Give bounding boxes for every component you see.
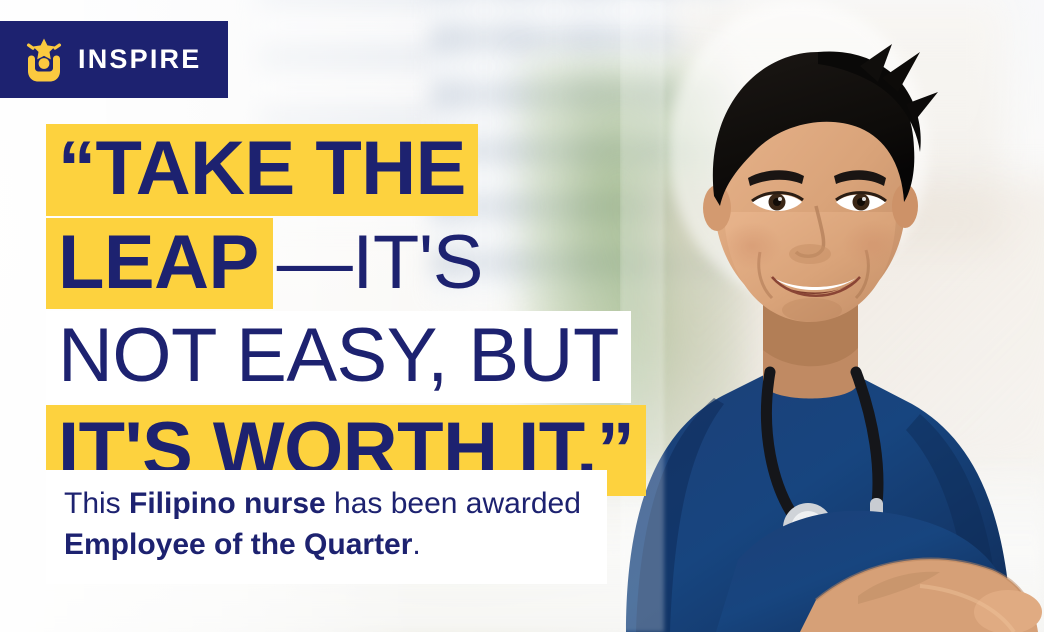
quote-line-3-highlight: NOT EASY, BUT <box>46 311 631 403</box>
subtitle-line-2: Employee of the Quarter. <box>64 525 581 566</box>
quote-block: “TAKE THE LEAP—IT'S NOT EASY, BUT IT'S W… <box>46 124 706 496</box>
subtitle-text-c: has been awarded <box>326 487 581 520</box>
subtitle-text-period: . <box>412 528 420 561</box>
quote-line-1-highlight: “TAKE THE <box>46 124 478 216</box>
subtitle-text-bold-award: Employee of the Quarter <box>64 528 412 561</box>
quote-line-3: NOT EASY, BUT <box>46 311 706 403</box>
quote-line-1: “TAKE THE <box>46 124 706 216</box>
subtitle-text-bold-nurse: Filipino nurse <box>129 487 326 520</box>
quote-line-2-highlight: LEAP <box>46 218 273 310</box>
inspire-quote-card: INSPIRE “TAKE THE LEAP—IT'S NOT EASY, BU… <box>0 0 1044 632</box>
subtitle-block: This Filipino nurse has been awarded Emp… <box>46 470 607 584</box>
person-raising-arms-with-star-icon <box>24 38 64 82</box>
subtitle-text-a: This <box>64 487 129 520</box>
badge-label: INSPIRE <box>78 44 201 75</box>
quote-line-2: LEAP—IT'S <box>46 218 706 310</box>
inspire-badge: INSPIRE <box>0 21 228 98</box>
subtitle-line-1: This Filipino nurse has been awarded <box>64 484 581 525</box>
quote-line-2-plain: —IT'S <box>273 218 487 310</box>
